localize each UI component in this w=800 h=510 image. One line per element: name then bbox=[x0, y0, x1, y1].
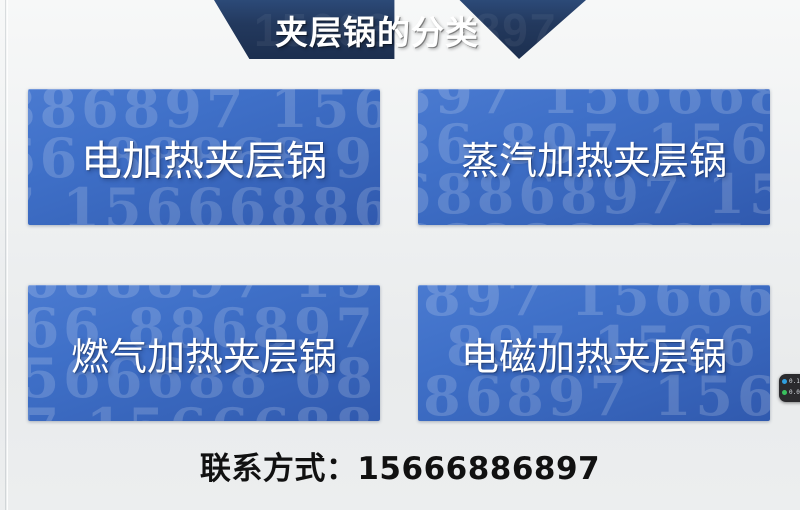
category-card-label: 电磁加热夹层锅 bbox=[418, 285, 770, 421]
widget-row-download: 0.0 bbox=[782, 387, 800, 398]
widget-upload-value: 0.1 bbox=[789, 378, 800, 386]
category-card-label: 电加热夹层锅 bbox=[28, 89, 380, 225]
page-title: 夹层锅的分类 bbox=[252, 3, 502, 56]
upload-indicator-icon bbox=[782, 379, 787, 384]
floating-stats-widget[interactable]: 0.1 0.0 bbox=[779, 374, 800, 402]
category-card-electric-heating[interactable]: 886897 15666 88868 97 15666886897 886889… bbox=[28, 89, 380, 225]
category-card-grid: 886897 15666 88868 97 15666886897 886889… bbox=[28, 89, 780, 421]
title-banner: 15666886897 15666886897 夹层锅的分类 bbox=[214, 0, 586, 59]
contact-info: 联系方式：15666886897 bbox=[0, 442, 800, 488]
widget-row-upload: 0.1 bbox=[782, 376, 800, 387]
download-indicator-icon bbox=[782, 390, 787, 395]
widget-download-value: 0.0 bbox=[789, 389, 800, 397]
category-card-steam-heating[interactable]: 8897 156668886 897 15666886897 15666886 … bbox=[418, 89, 770, 225]
category-card-induction-heating[interactable]: 86897 1566688 897 15666886897 1566688 68… bbox=[418, 285, 770, 421]
category-card-label: 蒸汽加热夹层锅 bbox=[418, 89, 770, 225]
category-card-label: 燃气加热夹层锅 bbox=[28, 285, 380, 421]
slide-edge-line-outer bbox=[5, 0, 6, 510]
slide-edge-line-inner bbox=[7, 0, 8, 510]
category-card-gas-heating[interactable]: 6688897 15666 886897 1566688 6897 156668… bbox=[28, 285, 380, 421]
slide-canvas: 15666886897 15666886897 夹层锅的分类 886897 15… bbox=[0, 0, 800, 510]
